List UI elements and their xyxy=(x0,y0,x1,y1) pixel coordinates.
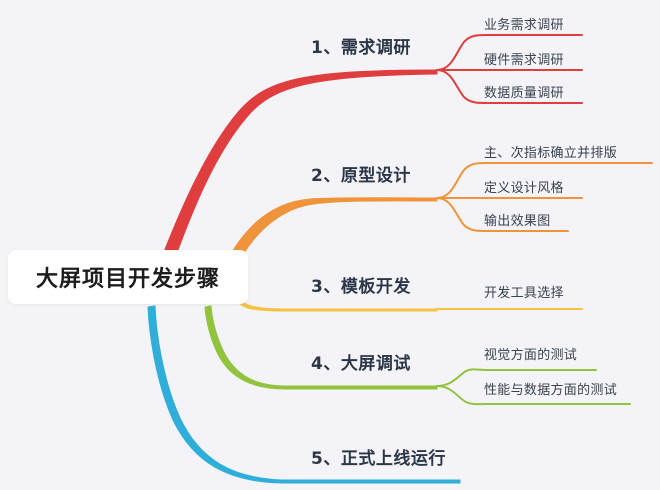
root-node-label: 大屏项目开发步骤 xyxy=(36,261,220,293)
leaf-label-1-2[interactable]: 数据质量调研 xyxy=(484,87,564,100)
leaf-label-1-0[interactable]: 业务需求调研 xyxy=(484,19,564,32)
leaf-label-1-1[interactable]: 硬件需求调研 xyxy=(484,54,564,67)
main-branch-curve-4 xyxy=(205,306,437,389)
branch-edge-group-2 xyxy=(212,163,652,302)
mindmap-canvas: 大屏项目开发步骤 1、需求调研 业务需求调研 硬件需求调研 数据质量调研 2、原… xyxy=(0,0,660,490)
branch-label-1[interactable]: 1、需求调研 xyxy=(311,40,411,57)
branch-label-5[interactable]: 5、正式上线运行 xyxy=(311,451,446,468)
mindmap-edges-layer xyxy=(0,0,660,490)
leaf-label-4-0[interactable]: 视觉方面的测试 xyxy=(484,349,577,362)
leaf-label-3-0[interactable]: 开发工具选择 xyxy=(484,287,564,300)
leaf-label-2-0[interactable]: 主、次指标确立并排版 xyxy=(484,147,617,160)
branch-label-2[interactable]: 2、原型设计 xyxy=(311,168,411,185)
root-node[interactable]: 大屏项目开发步骤 xyxy=(8,250,248,304)
main-branch-curve-3 xyxy=(240,301,437,311)
leaf-label-2-2[interactable]: 输出效果图 xyxy=(484,215,551,228)
leaf-label-4-1[interactable]: 性能与数据方面的测试 xyxy=(484,384,617,397)
branch-edge-group-3 xyxy=(240,301,582,311)
branch-label-4[interactable]: 4、大屏调试 xyxy=(311,356,411,373)
leaf-label-2-1[interactable]: 定义设计风格 xyxy=(484,182,564,195)
branch-label-3[interactable]: 3、模板开发 xyxy=(311,279,411,296)
